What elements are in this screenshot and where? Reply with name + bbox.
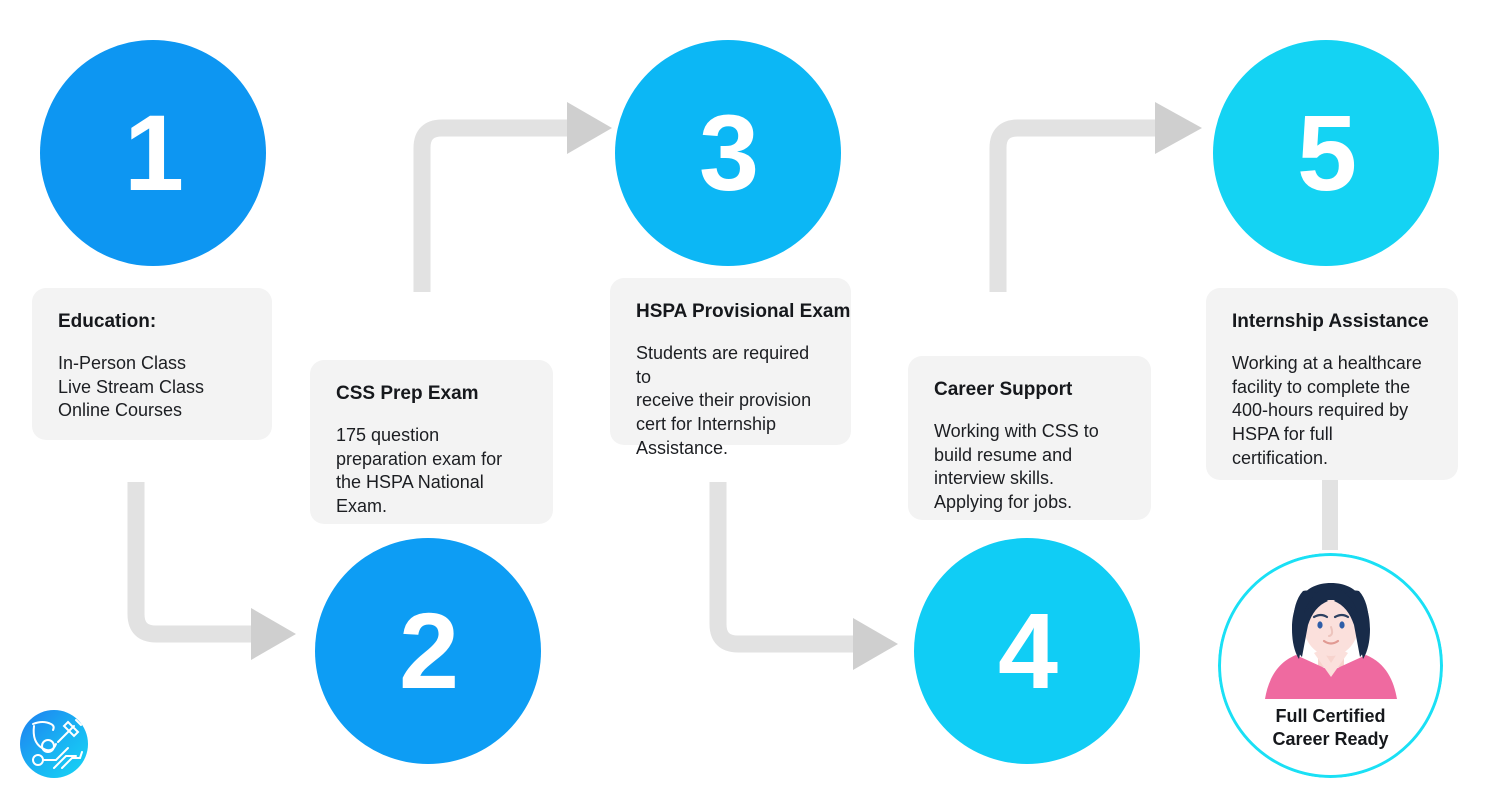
step-circle-1[interactable]: 1: [40, 40, 266, 266]
arrow-step3-to-step4: [700, 474, 905, 674]
step-card-2[interactable]: CSS Prep Exam 175 question preparation e…: [310, 360, 553, 524]
step-card-1-body: In-Person Class Live Stream Class Online…: [58, 352, 246, 423]
step-number-4: 4: [998, 597, 1056, 705]
step-card-2-title: CSS Prep Exam: [336, 382, 527, 406]
step-circle-2[interactable]: 2: [315, 538, 541, 764]
step-circle-4[interactable]: 4: [914, 538, 1140, 764]
outcome-caption: Full Certified Career Ready: [1218, 705, 1443, 751]
connector-step5-to-outcome: [1322, 478, 1338, 550]
diagram-canvas: 1 2 3 4 5 Education: In-Person Class Liv…: [0, 0, 1500, 800]
step-card-4-body: Working with CSS to build resume and int…: [934, 420, 1125, 515]
step-card-1-title: Education:: [58, 310, 246, 334]
arrow-step4-to-step5: [980, 100, 1205, 300]
step-card-5-title: Internship Assistance: [1232, 310, 1432, 334]
step-card-2-body: 175 question preparation exam for the HS…: [336, 424, 527, 519]
step-number-2: 2: [399, 597, 457, 705]
step-card-3-body: Students are required to receive their p…: [636, 342, 825, 461]
step-card-3-title: HSPA Provisional Exam: [636, 300, 825, 324]
arrow-step2-to-step3: [404, 100, 614, 300]
step-card-3[interactable]: HSPA Provisional Exam Students are requi…: [610, 278, 851, 445]
step-card-5-body: Working at a healthcare facility to comp…: [1232, 352, 1432, 471]
step-number-3: 3: [699, 99, 757, 207]
step-circle-5[interactable]: 5: [1213, 40, 1439, 266]
step-card-1[interactable]: Education: In-Person Class Live Stream C…: [32, 288, 272, 440]
certified-professional-avatar-icon: [1256, 579, 1406, 699]
step-circle-3[interactable]: 3: [615, 40, 841, 266]
step-card-4[interactable]: Career Support Working with CSS to build…: [908, 356, 1151, 520]
step-card-4-title: Career Support: [934, 378, 1125, 402]
step-card-5[interactable]: Internship Assistance Working at a healt…: [1206, 288, 1458, 480]
arrow-step1-to-step2: [118, 474, 303, 674]
outcome-badge[interactable]: Full Certified Career Ready: [1218, 553, 1443, 778]
step-number-5: 5: [1297, 99, 1355, 207]
step-number-1: 1: [124, 99, 182, 207]
healthcare-circuit-logo-icon: [18, 708, 90, 780]
